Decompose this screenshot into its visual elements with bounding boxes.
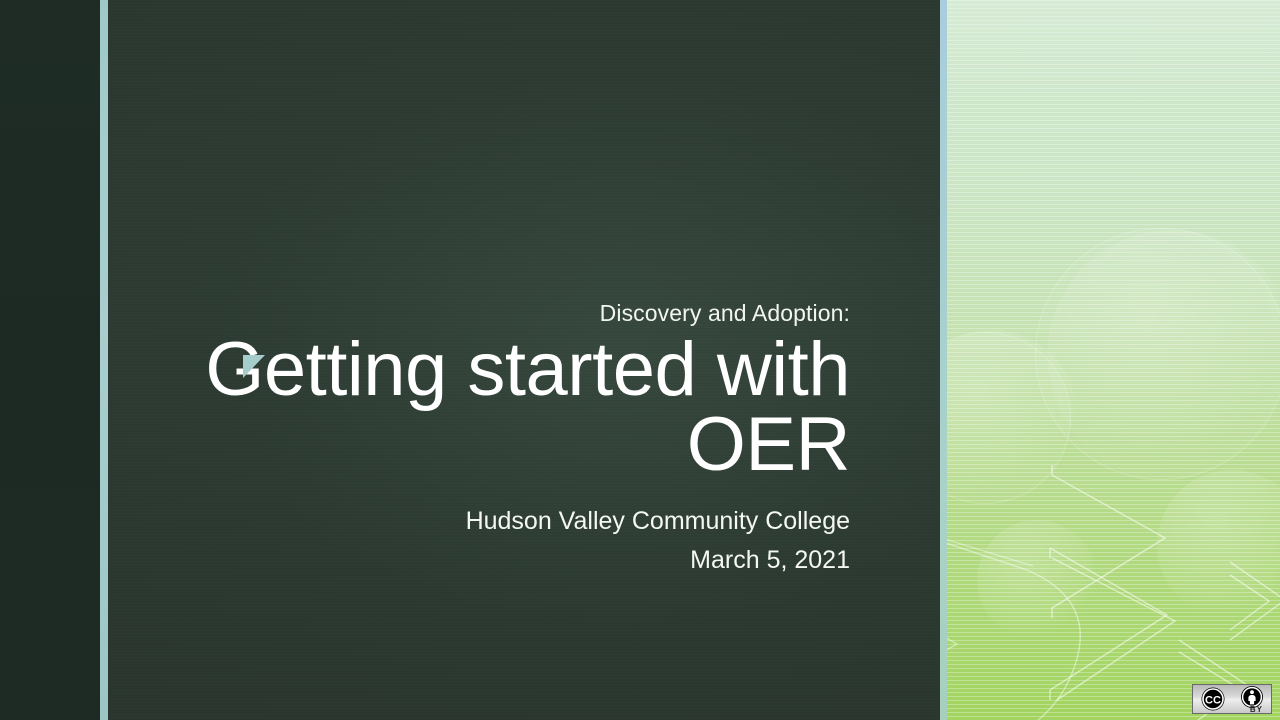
bokeh-circle (977, 520, 1097, 640)
presentation-date: March 5, 2021 (150, 545, 850, 576)
organization-name: Hudson Valley Community College (150, 506, 850, 537)
left-margin-strip (0, 0, 100, 720)
triangle-marker-icon (243, 355, 265, 378)
green-panel-edge (940, 0, 947, 720)
decorative-green-panel (947, 0, 1280, 720)
bokeh-ring (1035, 228, 1280, 480)
title-block: Discovery and Adoption: Getting started … (150, 300, 850, 577)
presentation-slide: Discovery and Adoption: Getting started … (0, 0, 1280, 720)
bokeh-circle (947, 330, 1077, 500)
cc-by-label: BY (1250, 705, 1263, 714)
scanline-overlay (947, 0, 1280, 720)
bokeh-ring (947, 332, 1071, 504)
creative-commons-icon: CC (1200, 686, 1226, 712)
cc-by-license-badge[interactable]: CC BY (1192, 684, 1272, 714)
teal-accent-rule (100, 0, 108, 720)
svg-text:CC: CC (1205, 694, 1221, 706)
bokeh-circle (1157, 470, 1280, 620)
bokeh-circle (1047, 230, 1280, 480)
slide-eyebrow: Discovery and Adoption: (150, 300, 850, 328)
chevron-decoration-icon (947, 0, 1280, 720)
